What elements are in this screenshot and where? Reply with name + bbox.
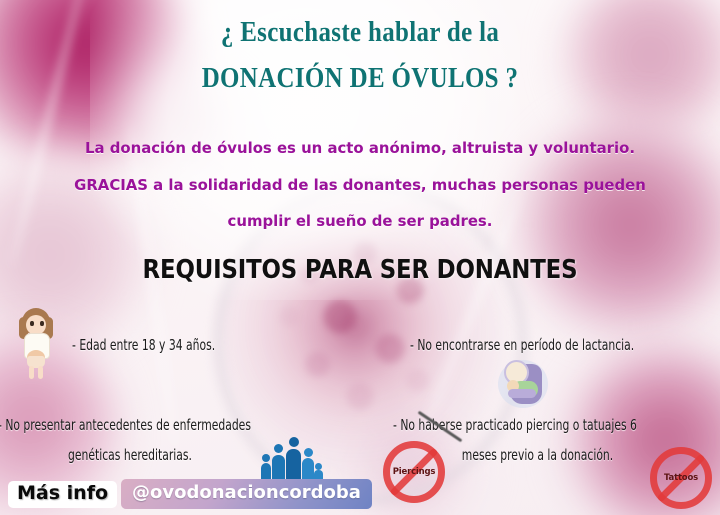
lead-line-3: cumplir el sueño de ser padres.: [14, 214, 705, 230]
no-piercings-label: Piercings: [383, 467, 445, 477]
ovule-donation-poster: ¿ Escuchaste hablar de la DONACIÓN DE ÓV…: [0, 0, 720, 515]
lead-line-2: GRACIAS a la solidaridad de las donantes…: [14, 178, 705, 194]
no-tattoos-icon: Tattoos: [650, 447, 712, 509]
lead-paragraph: La donación de óvulos es un acto anónimo…: [0, 141, 720, 251]
requirement-genetic-line-2: genéticas hereditarias.: [0, 440, 262, 470]
lead-line-1: La donación de óvulos es un acto anónimo…: [14, 141, 705, 157]
headline-block: ¿ Escuchaste hablar de la DONACIÓN DE ÓV…: [0, 14, 720, 97]
headline-line-2: DONACIÓN DE ÓVULOS ?: [50, 60, 669, 98]
footer-bar: Más info @ovodonacioncordoba: [8, 479, 372, 509]
pregnant-woman-icon: [14, 306, 58, 380]
requirements-heading: REQUISITOS PARA SER DONANTES: [43, 255, 677, 285]
more-info-label: Más info: [8, 481, 117, 508]
woman-eye-right: [40, 321, 44, 326]
instagram-handle-badge[interactable]: @ovodonacioncordoba: [121, 479, 372, 509]
no-piercings-icon: Piercings: [383, 441, 445, 503]
woman-leg-right: [38, 366, 43, 379]
headline-line-1: ¿ Escuchaste hablar de la: [50, 14, 669, 52]
requirement-genetic-line-1: - No presentar antecedentes de enfermeda…: [0, 416, 251, 434]
breastfeeding-icon: [492, 356, 554, 412]
woman-leg-left: [29, 366, 34, 379]
no-tattoos-label: Tattoos: [650, 473, 712, 483]
woman-eye-left: [30, 321, 34, 326]
breastfeeding-mother-arm: [508, 389, 536, 398]
requirement-age: - Edad entre 18 y 34 años.: [72, 331, 215, 360]
